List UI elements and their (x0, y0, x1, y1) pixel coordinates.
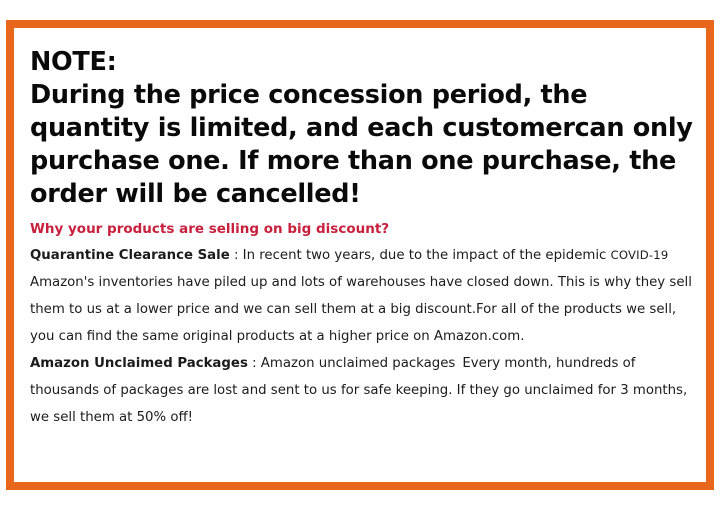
discount-question-heading: Why your products are selling on big dis… (30, 217, 694, 241)
unclaimed-packages-label: Amazon Unclaimed Packages (30, 356, 248, 371)
note-box: NOTE: During the price concession period… (6, 20, 714, 490)
note-headline-label: NOTE: (30, 47, 117, 77)
quarantine-clearance-label: Quarantine Clearance Sale (30, 248, 230, 263)
covid-19-term: COVID-19 (611, 248, 669, 262)
note-headline: NOTE: During the price concession period… (30, 46, 694, 211)
quarantine-clearance-paragraph: Quarantine Clearance Sale : In recent tw… (30, 242, 694, 350)
note-headline-body: During the price concession period, the … (30, 80, 693, 209)
unclaimed-packages-text-part1: Amazon unclaimed packages (261, 356, 456, 371)
unclaimed-packages-paragraph: Amazon Unclaimed Packages : Amazon uncla… (30, 350, 694, 431)
quarantine-clearance-text-part2: Amazon's inventories have piled up and l… (30, 275, 692, 344)
note-box-inner: NOTE: During the price concession period… (14, 28, 706, 482)
quarantine-clearance-colon: : (230, 248, 243, 263)
quarantine-clearance-text-part1: In recent two years, due to the impact o… (243, 248, 611, 263)
note-page: NOTE: During the price concession period… (0, 0, 720, 514)
unclaimed-packages-colon: : (248, 356, 261, 371)
